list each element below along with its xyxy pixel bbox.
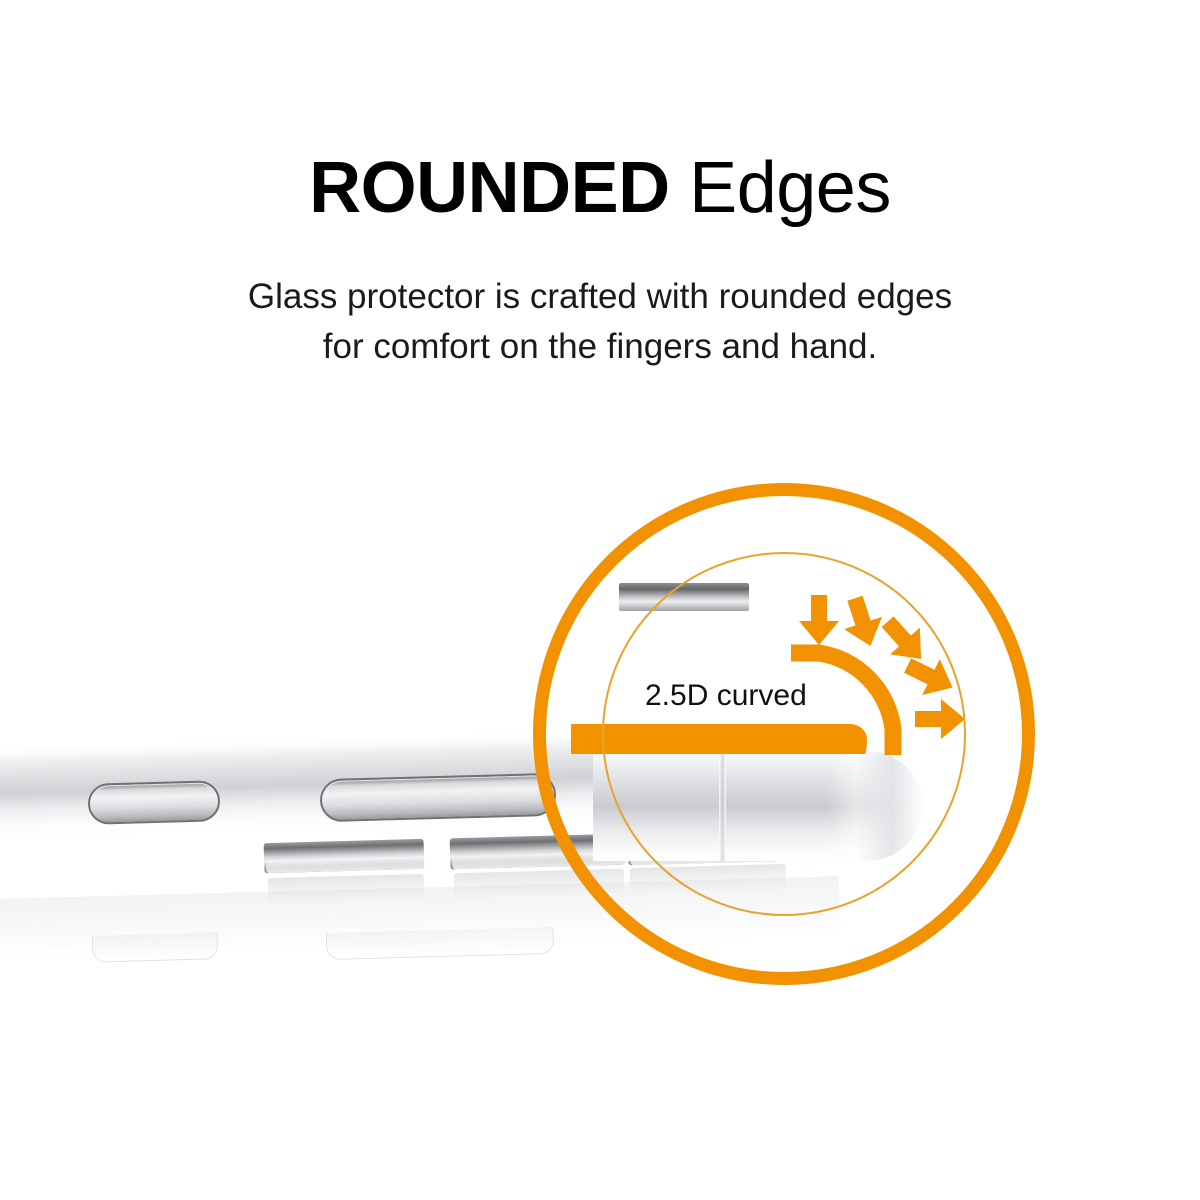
antenna-segment-1 bbox=[264, 839, 425, 873]
volume-down-button-reflection bbox=[326, 927, 555, 960]
volume-up-button bbox=[87, 780, 220, 825]
product-feature-banner: ROUNDED Edges Glass protector is crafted… bbox=[0, 0, 1200, 1200]
magnifier-outer-ring bbox=[533, 483, 1035, 985]
magnifier-circle-icon: 2.5D curved bbox=[533, 483, 1035, 985]
antenna-reflection-1 bbox=[268, 874, 425, 904]
volume-down-button bbox=[319, 773, 556, 822]
volume-up-button-reflection bbox=[92, 932, 219, 962]
